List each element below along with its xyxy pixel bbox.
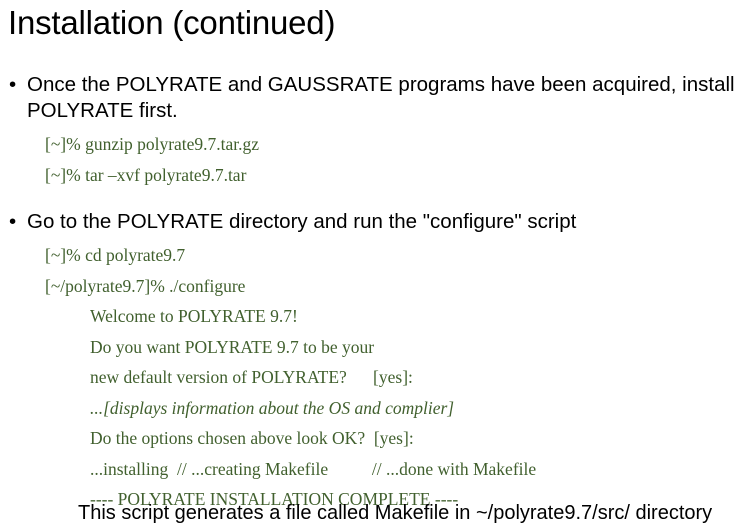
bullet-block-2: • Go to the POLYRATE directory and run t… <box>0 209 738 512</box>
terminal-line-italic: ...[displays information about the OS an… <box>0 397 738 421</box>
closing-note: This script generates a file called Make… <box>78 500 712 526</box>
terminal-line: Welcome to POLYRATE 9.7! <box>0 305 738 329</box>
terminal-line: Do you want POLYRATE 9.7 to be your <box>0 336 738 360</box>
slide-body: • Once the POLYRATE and GAUSSRATE progra… <box>0 72 738 512</box>
terminal-line: [~]% gunzip polyrate9.7.tar.gz <box>0 133 738 157</box>
spacer <box>0 268 738 275</box>
spacer <box>0 451 738 458</box>
spacer <box>0 157 738 164</box>
spacer <box>0 187 738 209</box>
spacer <box>0 124 738 133</box>
spacer <box>0 481 738 488</box>
terminal-line: new default version of POLYRATE? [yes]: <box>0 366 738 390</box>
spacer <box>0 359 738 366</box>
terminal-line: [~]% tar –xvf polyrate9.7.tar <box>0 164 738 188</box>
bullet-item-1-text: Once the POLYRATE and GAUSSRATE programs… <box>27 72 738 124</box>
bullet-dot-icon: • <box>9 72 16 98</box>
bullet-item-2-text: Go to the POLYRATE directory and run the… <box>27 209 738 235</box>
terminal-line: [~]% cd polyrate9.7 <box>0 244 738 268</box>
spacer <box>0 390 738 397</box>
bullet-block-1: • Once the POLYRATE and GAUSSRATE progra… <box>0 72 738 187</box>
terminal-line: [~/polyrate9.7]% ./configure <box>0 275 738 299</box>
spacer <box>0 329 738 336</box>
spacer <box>0 298 738 305</box>
page-title: Installation (continued) <box>8 2 335 44</box>
bullet-item-2: • Go to the POLYRATE directory and run t… <box>0 209 738 235</box>
terminal-line: Do the options chosen above look OK? [ye… <box>0 427 738 451</box>
bullet-dot-icon: • <box>9 209 16 235</box>
spacer <box>0 235 738 244</box>
slide-canvas: Installation (continued) • Once the POLY… <box>0 0 738 530</box>
spacer <box>0 420 738 427</box>
bullet-item-1: • Once the POLYRATE and GAUSSRATE progra… <box>0 72 738 124</box>
terminal-line: ...installing // ...creating Makefile //… <box>0 458 738 482</box>
